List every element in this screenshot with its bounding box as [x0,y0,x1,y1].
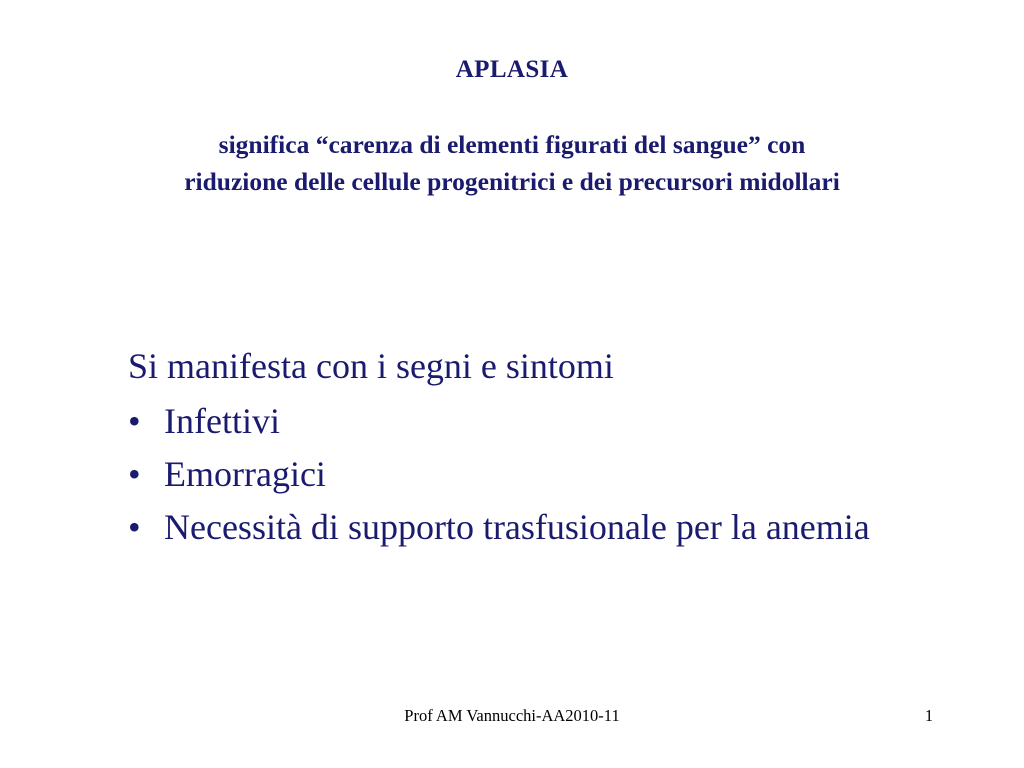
slide-canvas: APLASIA significa “carenza di elementi f… [0,0,1024,768]
subtitle-line-1: significa “carenza di elementi figurati … [0,127,1024,164]
list-item: • Emorragici [128,453,958,495]
list-item: • Infettivi [128,400,958,442]
body-block: Si manifesta con i segni e sintomi • Inf… [128,345,958,548]
slide-footer: Prof AM Vannucchi-AA2010-11 1 [0,703,1024,729]
bullet-point-icon: • [128,506,141,548]
list-item-label: Emorragici [164,453,958,495]
body-lead-text: Si manifesta con i segni e sintomi [128,345,958,387]
list-item-label: Necessità di supporto trasfusionale per … [164,506,958,548]
bullet-point-icon: • [128,453,141,495]
slide-subtitle: significa “carenza di elementi figurati … [0,85,1024,201]
page-title: APLASIA [0,56,1024,85]
list-item: • Necessità di supporto trasfusionale pe… [128,506,958,548]
bullet-point-icon: • [128,400,141,442]
heading-block: APLASIA significa “carenza di elementi f… [0,56,1024,201]
footer-author-text: Prof AM Vannucchi-AA2010-11 [0,703,1024,729]
footer-page-number: 1 [912,703,946,729]
subtitle-line-2: riduzione delle cellule progenitrici e d… [0,164,1024,201]
bullet-list: • Infettivi • Emorragici • Necessità di … [128,400,958,548]
list-item-label: Infettivi [164,400,958,442]
